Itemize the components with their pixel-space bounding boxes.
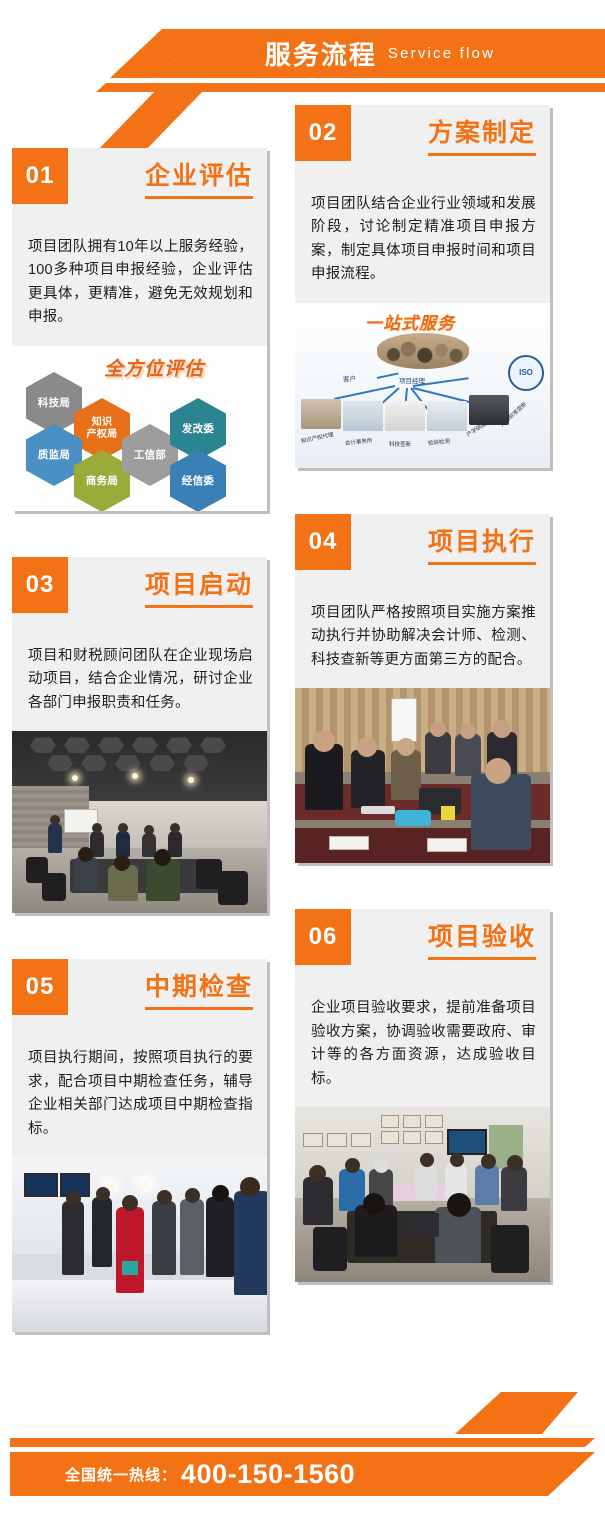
step-card-06[interactable]: 06 项目验收 企业项目验收要求，提前准备项目验收方案，协调验收需要政府、审计等… [295,909,550,1282]
photo-site-visit [12,1157,267,1332]
card-media-onestop-diagram: 一站式服务 客户 项目经理 ISO 知识产权代理 会计事务所 科技查新 [295,303,550,468]
onestop-team-photo [377,333,469,369]
card-header: 02 方案制定 [295,105,550,177]
onestop-client-label: 客户 [343,373,356,383]
card-description: 项目和财税顾问团队在企业现场启动项目，结合企业情况，研讨企业各部门申报职责和任务… [12,629,267,731]
page-title: 服务流程 [265,35,377,72]
card-media-hex-diagram: 全方位评估 科技局 知识产权局 质监局 商务局 工信部 发改委 经信委 [12,346,267,511]
card-media-photo [12,731,267,913]
header-title-group: 服务流程 Service flow [155,29,605,78]
footer-hotline-group: 全国统一热线： 400-150-1560 [10,1452,510,1496]
header-stripe [150,83,605,92]
card-description: 项目团队结合企业行业领域和发展阶段，讨论制定精准项目申报方案，制定具体项目申报时… [295,177,550,303]
hex-node-3: 商务局 [74,450,130,511]
card-description: 项目执行期间，按照项目执行的要求，配合项目中期检查任务，辅导企业相关部门达成项目… [12,1031,267,1157]
hex-node-2: 质监局 [26,424,82,486]
step-card-03[interactable]: 03 项目启动 项目和财税顾问团队在企业现场启动项目，结合企业情况，研讨企业各部… [12,557,267,913]
onestop-node-0 [301,399,341,429]
step-number-badge: 04 [295,514,351,570]
onestop-node-3 [427,401,467,431]
step-card-05[interactable]: 05 中期检查 项目执行期间，按照项目执行的要求，配合项目中期检查任务，辅导企业… [12,959,267,1332]
step-card-02[interactable]: 02 方案制定 项目团队结合企业行业领域和发展阶段，讨论制定精准项目申报方案，制… [295,105,550,468]
card-title: 企业评估 [145,162,253,199]
photo-meeting-room [12,731,267,913]
card-header: 03 项目启动 [12,557,267,629]
card-description: 企业项目验收要求，提前准备项目验收方案，协调验收需要政府、审计等的各方面资源，达… [295,981,550,1107]
page-header: 服务流程 Service flow [0,0,605,100]
column-right: 02 方案制定 项目团队结合企业行业领域和发展阶段，讨论制定精准项目申报方案，制… [295,105,550,1328]
onestop-seal-icon: ISO [508,355,544,391]
hex-node-4: 工信部 [122,424,178,486]
card-header: 05 中期检查 [12,959,267,1031]
card-title: 项目执行 [428,528,536,565]
onestop-service-label-1: 会计事务所 [345,436,373,447]
card-header: 01 企业评估 [12,148,267,220]
page-subtitle: Service flow [388,45,495,62]
hex-diagram-title: 全方位评估 [104,354,204,381]
column-left: 01 企业评估 项目团队拥有10年以上服务经验，100多种项目申报经验，企业评估… [12,148,267,1378]
card-header: 06 项目验收 [295,909,550,981]
onestop-title: 一站式服务 [365,309,455,334]
card-media-photo [295,1107,550,1282]
hotline-number[interactable]: 400-150-1560 [181,1459,355,1490]
hex-node-6: 经信委 [170,450,226,511]
card-title: 中期检查 [145,973,253,1010]
step-number-badge: 02 [295,105,351,161]
card-media-photo [295,688,550,863]
onestop-node-2 [385,401,425,431]
footer-stripe [10,1438,595,1447]
onestop-service-label-0: 知识产权代理 [300,430,334,445]
card-title: 项目验收 [428,923,536,960]
card-description: 项目团队拥有10年以上服务经验，100多种项目申报经验，企业评估更具体，更精准，… [12,220,267,346]
hex-diagram: 全方位评估 科技局 知识产权局 质监局 商务局 工信部 发改委 经信委 [12,346,267,511]
onestop-service-label-2: 科技查新 [389,440,411,448]
photo-acceptance [295,1107,550,1282]
onestop-service-label-3: 检验检测 [428,437,451,447]
step-number-badge: 05 [12,959,68,1015]
page-footer: 全国统一热线： 400-150-1560 [0,1432,605,1512]
card-description: 项目团队严格按照项目实施方案推动执行并协助解决会计师、检测、科技查新等更方面第三… [295,586,550,688]
step-number-badge: 06 [295,909,351,965]
step-number-badge: 01 [12,148,68,204]
header-accent-slash [96,92,246,152]
step-card-01[interactable]: 01 企业评估 项目团队拥有10年以上服务经验，100多种项目申报经验，企业评估… [12,148,267,511]
photo-workshop [295,688,550,863]
step-card-04[interactable]: 04 项目执行 项目团队严格按照项目实施方案推动执行并协助解决会计师、检测、科技… [295,514,550,863]
hotline-label: 全国统一热线： [65,1464,177,1485]
step-number-badge: 03 [12,557,68,613]
card-header: 04 项目执行 [295,514,550,586]
onestop-arrow-0 [377,372,399,379]
card-media-photo [12,1157,267,1332]
onestop-diagram: 一站式服务 客户 项目经理 ISO 知识产权代理 会计事务所 科技查新 [295,303,550,468]
card-title: 项目启动 [145,571,253,608]
card-title: 方案制定 [428,119,536,156]
onestop-node-1 [343,401,383,431]
